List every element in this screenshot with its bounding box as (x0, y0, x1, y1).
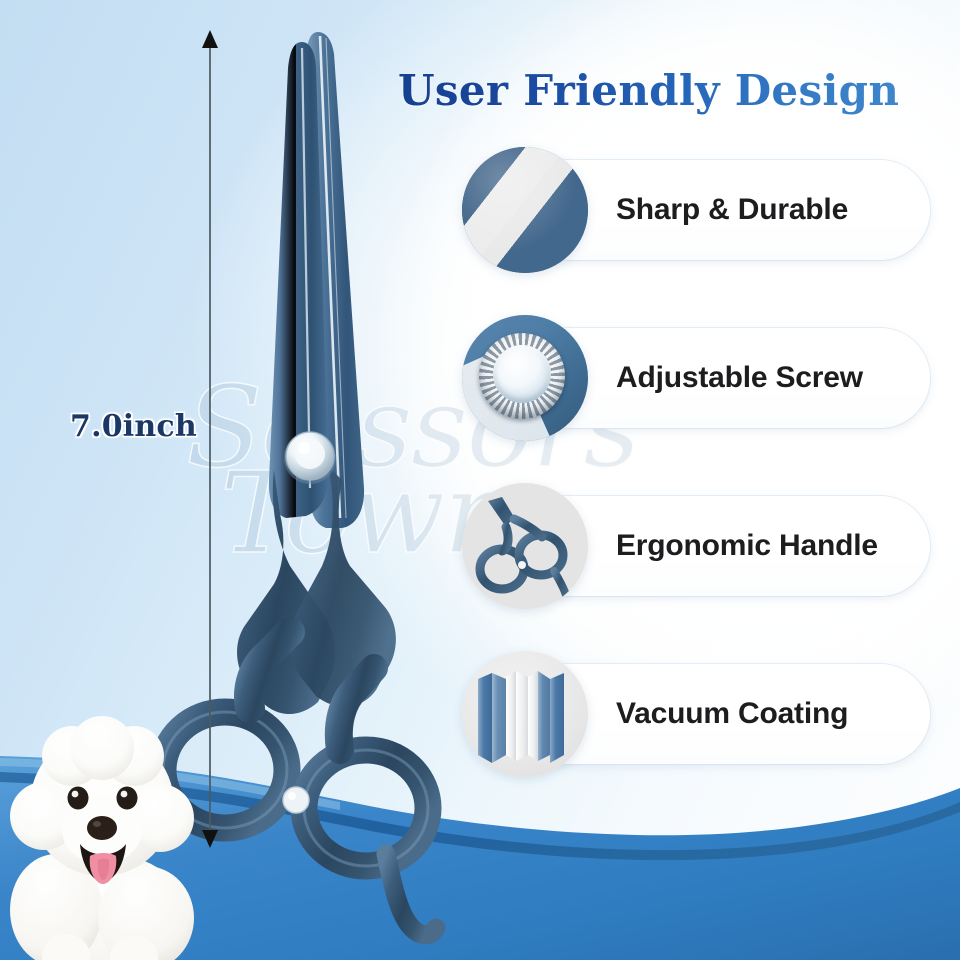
page-title: User Friendly Design (398, 66, 899, 115)
dimension-arrow (193, 28, 227, 852)
feature-row-sharp-durable[interactable]: Sharp & Durable (462, 146, 932, 274)
feature-label: Adjustable Screw (616, 361, 863, 395)
dimension-arrow-svg (193, 28, 227, 852)
feature-row-adjustable-screw[interactable]: Adjustable Screw (462, 314, 932, 442)
screw-icon (462, 315, 588, 441)
feature-list: Sharp & Durable Adjustable Screw (462, 146, 932, 818)
feature-row-ergonomic-handle[interactable]: Ergonomic Handle (462, 482, 932, 610)
blade-edge-icon (462, 147, 588, 273)
feature-label: Sharp & Durable (616, 193, 848, 227)
coating-layers-icon (462, 651, 588, 777)
feature-row-vacuum-coating[interactable]: Vacuum Coating (462, 650, 932, 778)
product-infographic-poster: ScissorsTown (0, 0, 960, 960)
feature-label: Ergonomic Handle (616, 529, 878, 563)
feature-label: Vacuum Coating (616, 697, 848, 731)
dimension-label: 7.0inch (70, 409, 197, 444)
scissor-handle-icon (462, 483, 588, 609)
